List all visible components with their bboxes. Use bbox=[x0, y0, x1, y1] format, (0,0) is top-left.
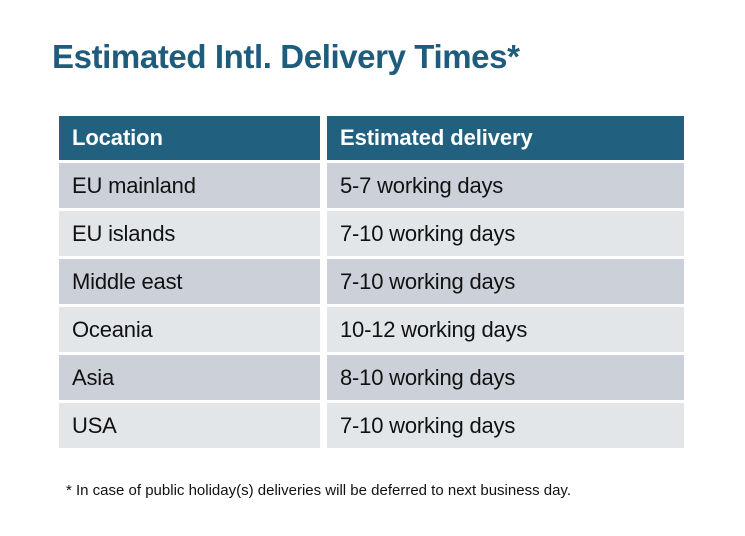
table-row: EU mainland 5-7 working days bbox=[59, 163, 684, 208]
cell-location: Oceania bbox=[59, 307, 320, 352]
cell-location: EU mainland bbox=[59, 163, 320, 208]
cell-delivery: 7-10 working days bbox=[327, 259, 684, 304]
footnote: * In case of public holiday(s) deliverie… bbox=[66, 482, 571, 499]
cell-delivery: 8-10 working days bbox=[327, 355, 684, 400]
table-body: EU mainland 5-7 working days EU islands … bbox=[59, 163, 684, 448]
delivery-times-page: Estimated Intl. Delivery Times* Location… bbox=[0, 0, 745, 536]
cell-location: USA bbox=[59, 403, 320, 448]
table-row: EU islands 7-10 working days bbox=[59, 211, 684, 256]
table-row: USA 7-10 working days bbox=[59, 403, 684, 448]
cell-location: Middle east bbox=[59, 259, 320, 304]
page-title: Estimated Intl. Delivery Times* bbox=[52, 38, 520, 76]
cell-delivery: 10-12 working days bbox=[327, 307, 684, 352]
table-row: Asia 8-10 working days bbox=[59, 355, 684, 400]
table-header-row: Location Estimated delivery bbox=[59, 116, 684, 160]
table-row: Middle east 7-10 working days bbox=[59, 259, 684, 304]
table-row: Oceania 10-12 working days bbox=[59, 307, 684, 352]
cell-location: EU islands bbox=[59, 211, 320, 256]
cell-delivery: 7-10 working days bbox=[327, 403, 684, 448]
cell-delivery: 5-7 working days bbox=[327, 163, 684, 208]
column-header-estimated-delivery: Estimated delivery bbox=[327, 116, 684, 160]
delivery-times-table: Location Estimated delivery EU mainland … bbox=[52, 113, 691, 451]
cell-delivery: 7-10 working days bbox=[327, 211, 684, 256]
cell-location: Asia bbox=[59, 355, 320, 400]
column-header-location: Location bbox=[59, 116, 320, 160]
table-header: Location Estimated delivery bbox=[59, 116, 684, 160]
